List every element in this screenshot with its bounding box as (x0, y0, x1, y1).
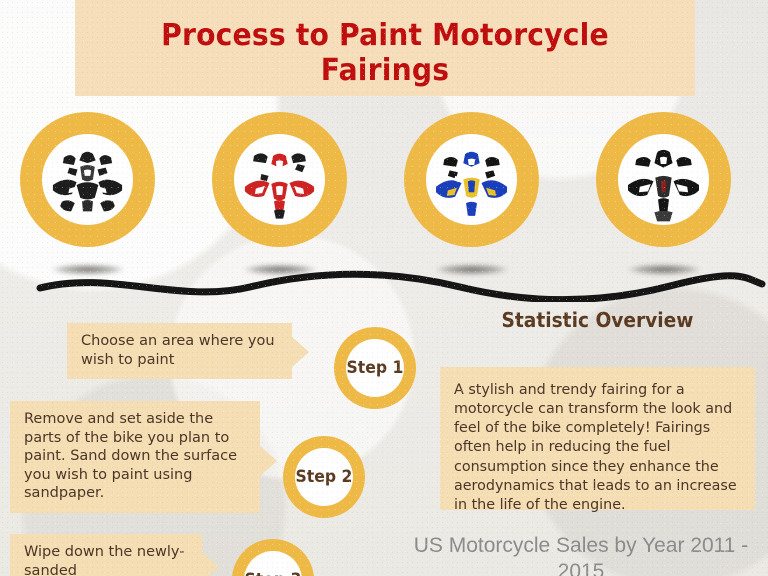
step-badge-core: Step 1 (346, 339, 404, 397)
step-callout-1-text: Choose an area where you wish to paint (81, 333, 275, 368)
step-badge-1[interactable]: Step 1 (334, 327, 416, 409)
step-callout-2-text: Remove and set aside the parts of the bi… (24, 411, 237, 501)
circle-inner (618, 134, 709, 225)
statistic-overview-heading: Statistic Overview (451, 308, 744, 332)
step-badge-core: Step 2 (295, 448, 353, 506)
step-callout-2: Remove and set aside the parts of the bi… (10, 401, 260, 513)
callout-arrow-icon (292, 337, 309, 367)
circle-inner (234, 134, 325, 225)
fairing-circle-1 (20, 112, 155, 247)
motorcycle-fairing-kit-black-white-icon (42, 134, 133, 225)
chart-caption: US Motorcycle Sales by Year 2011 - 2015 (398, 533, 764, 576)
motorcycle-fairing-kit-black-icon (618, 134, 709, 225)
step-badge-core: Step 3 (244, 551, 302, 576)
step-badge-3-label: Step 3 (245, 570, 302, 576)
page-title: Process to Paint Motorcycle Fairings (94, 18, 677, 88)
wavy-divider-icon (0, 268, 768, 302)
fairing-circle-4 (596, 112, 731, 247)
motorcycle-fairing-kit-blue-yellow-icon (426, 134, 517, 225)
step-badge-3[interactable]: Step 3 (232, 539, 314, 576)
step-callout-3-text: Wipe down the newly-sanded (24, 544, 184, 576)
fairing-circle-2 (212, 112, 347, 247)
step-callout-1: Choose an area where you wish to paint (67, 323, 292, 379)
motorcycle-fairing-kit-red-white-icon (234, 134, 325, 225)
step-badge-2[interactable]: Step 2 (283, 436, 365, 518)
circle-inner (42, 134, 133, 225)
callout-arrow-icon (202, 552, 219, 576)
infographic-canvas: Process to Paint Motorcycle Fairings (0, 0, 768, 576)
callout-arrow-icon (260, 446, 277, 476)
step-callout-3: Wipe down the newly-sanded (10, 534, 202, 576)
fairing-circle-3 (404, 112, 539, 247)
step-badge-1-label: Step 1 (347, 358, 404, 378)
circle-inner (426, 134, 517, 225)
statistic-overview-panel: A stylish and trendy fairing for a motor… (440, 367, 755, 510)
step-badge-2-label: Step 2 (296, 467, 353, 487)
